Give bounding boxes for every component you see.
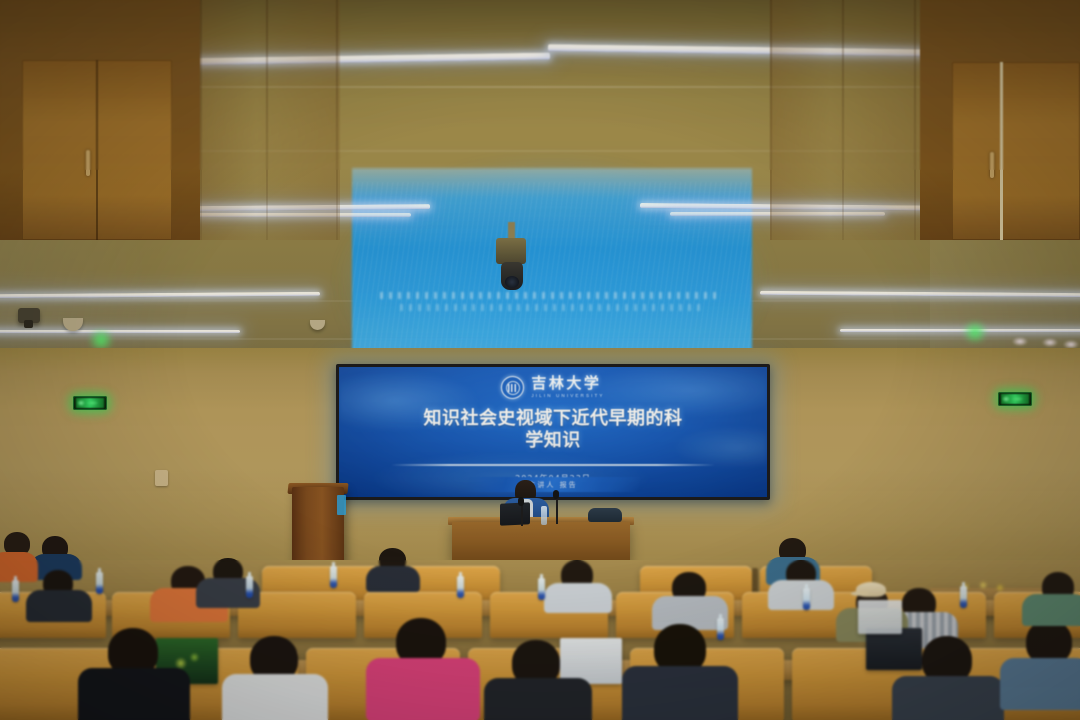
projection-screen: 吉林大学 JILIN UNIVERSITY 知识社会史视域下近代早期的科 学知识…: [339, 367, 767, 497]
person-shoulders: [768, 580, 834, 610]
exit-sign-left: [73, 396, 107, 410]
door-left-split: [96, 60, 98, 240]
water-bottle[interactable]: [246, 576, 253, 598]
wall-seam: [266, 0, 268, 240]
wall-seam: [770, 0, 772, 240]
door-right-handle[interactable]: [990, 152, 994, 178]
lecture-hall-photo: 吉林大学 JILIN UNIVERSITY 知识社会史视域下近代早期的科 学知识…: [0, 0, 1080, 720]
blue-panel-row-marks: [400, 304, 700, 311]
person-shoulders: [366, 658, 480, 720]
person-shoulders: [1022, 594, 1080, 626]
blue-panel-row-marks: [380, 292, 720, 299]
water-bottle[interactable]: [12, 580, 19, 602]
person-shoulders: [544, 583, 612, 613]
running-man-exit-icon: [76, 398, 104, 408]
screen-focus-blur: [339, 367, 767, 497]
wall-seam: [336, 0, 338, 240]
water-bottle[interactable]: [96, 572, 103, 594]
wall-wood-panel: [200, 0, 340, 240]
water-bottle[interactable]: [538, 578, 545, 600]
desk-bag: [588, 508, 622, 522]
water-bottle[interactable]: [803, 588, 810, 610]
exit-sign-right: [998, 392, 1032, 406]
ceiling-downlight: [1042, 338, 1058, 347]
door-left-handle[interactable]: [86, 150, 90, 176]
microphone-stand: [556, 496, 558, 524]
wall-switch-plate[interactable]: [155, 470, 168, 486]
person-shoulders: [892, 676, 1004, 720]
person-shoulders: [222, 674, 328, 720]
person-shoulders: [484, 678, 592, 720]
water-bottle[interactable]: [457, 576, 464, 598]
green-light-glow: [960, 322, 990, 342]
ceiling-projector: [496, 238, 526, 264]
presenter-laptop: [500, 502, 530, 526]
person-shoulders: [26, 590, 92, 622]
projector-lens-icon: [501, 262, 523, 290]
wall-seam: [200, 0, 202, 240]
person-shoulders: [366, 566, 420, 592]
presenter-desk: [452, 522, 630, 564]
ceiling-light-tube: [0, 330, 240, 333]
door-right-split: [1000, 62, 1003, 240]
water-bottle[interactable]: [717, 618, 724, 640]
door-right[interactable]: [952, 62, 1080, 240]
microphone-head-icon: [518, 497, 524, 506]
green-light-glow: [86, 330, 116, 350]
wall-wood-panel: [770, 0, 920, 240]
attendee-laptop[interactable]: [866, 628, 922, 670]
running-man-exit-icon: [1001, 394, 1029, 404]
baseball-cap-icon: [856, 582, 886, 597]
person-shoulders: [0, 552, 38, 582]
ceiling-downlight: [1012, 337, 1028, 346]
person-shoulders: [1000, 658, 1080, 710]
water-bottle[interactable]: [960, 586, 967, 608]
microphone-head-icon: [553, 490, 559, 499]
wall-seam: [842, 0, 844, 240]
presenter-water-bottle: [541, 506, 547, 525]
attendee-tablet[interactable]: [858, 600, 902, 634]
ceiling-camera: [18, 308, 40, 323]
person-shoulders: [78, 668, 190, 720]
lectern-side-panel: [337, 495, 346, 515]
projection-screen-frame: 吉林大学 JILIN UNIVERSITY 知识社会史视域下近代早期的科 学知识…: [336, 364, 770, 500]
person-shoulders: [622, 666, 738, 720]
wall-seam: [914, 0, 916, 240]
water-bottle[interactable]: [330, 566, 337, 588]
